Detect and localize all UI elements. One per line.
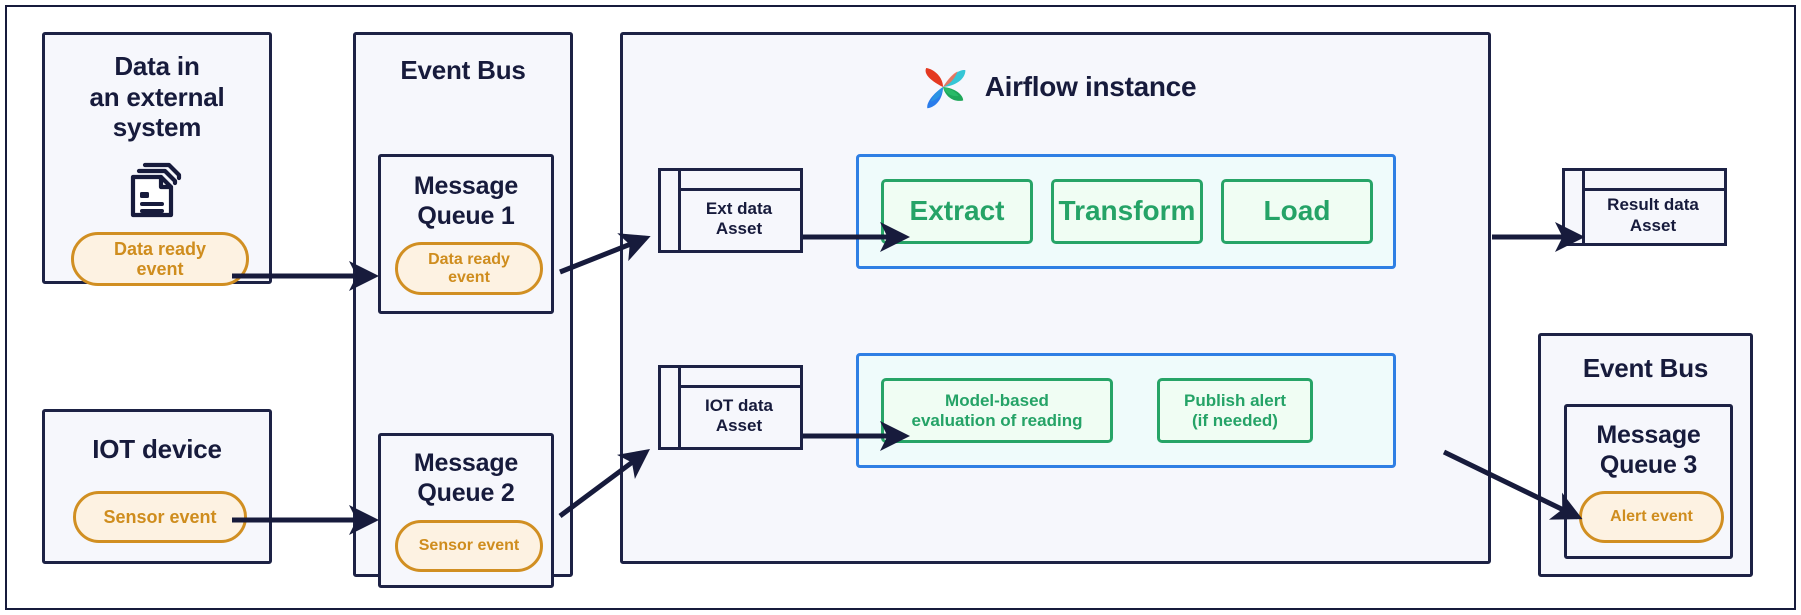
etl-dag-container: Extract Transform Load [856, 154, 1396, 269]
iot-data-asset-label-line1: IOT data [705, 396, 773, 415]
task-publish-alert[interactable]: Publish alert (if needed) [1157, 378, 1313, 443]
ext-data-asset-label-line1: Ext data [706, 199, 772, 218]
task-transform[interactable]: Transform [1051, 179, 1203, 244]
task-publish-alert-line1: Publish alert [1184, 391, 1286, 410]
event-bus-right-card: Event Bus Message Queue 3 Alert event [1538, 333, 1753, 577]
task-model-based-evaluation[interactable]: Model-based evaluation of reading [881, 378, 1113, 443]
message-queue-3-title-line1: Message [1567, 420, 1730, 450]
result-data-asset-label: Result data Asset [1579, 185, 1727, 246]
message-queue-2-title-line2: Queue 2 [381, 478, 551, 508]
event-bus-right-title: Event Bus [1541, 353, 1750, 384]
source-iot-event-pill[interactable]: Sensor event [73, 491, 247, 543]
result-data-asset[interactable]: Result data Asset [1562, 168, 1727, 246]
result-data-asset-label-line1: Result data [1607, 195, 1699, 214]
source-external-title: Data in an external system [45, 51, 269, 143]
source-external-event-pill[interactable]: Data ready event [71, 232, 249, 286]
ext-data-asset-label-line2: Asset [716, 219, 762, 238]
source-external-title-line3: system [45, 112, 269, 143]
airflow-header: Airflow instance [623, 59, 1488, 115]
airflow-instance-title: Airflow instance [985, 71, 1196, 103]
task-load[interactable]: Load [1221, 179, 1373, 244]
message-queue-2-card: Message Queue 2 Sensor event [378, 433, 554, 588]
message-queue-2-title-line1: Message [381, 448, 551, 478]
ext-data-asset-label: Ext data Asset [675, 185, 803, 253]
source-external-system-card: Data in an external system Data ready [42, 32, 272, 284]
source-external-title-line1: Data in [45, 51, 269, 82]
diagram-canvas: Data in an external system Data ready [0, 0, 1801, 615]
task-publish-alert-line2: (if needed) [1192, 411, 1278, 430]
iot-data-asset[interactable]: IOT data Asset [658, 365, 803, 450]
task-model-based-evaluation-line1: Model-based [945, 391, 1049, 410]
message-queue-3-card: Message Queue 3 Alert event [1564, 404, 1733, 559]
documents-icon [45, 159, 269, 223]
event-bus-left-title: Event Bus [356, 55, 570, 86]
ext-data-asset[interactable]: Ext data Asset [658, 168, 803, 253]
iot-data-asset-label-line2: Asset [716, 416, 762, 435]
airflow-instance-card: Airflow instance Ext data Asset Extract … [620, 32, 1491, 564]
task-extract-label: Extract [910, 195, 1005, 227]
message-queue-2-title: Message Queue 2 [381, 448, 551, 508]
source-iot-device-card: IOT device Sensor event [42, 409, 272, 564]
task-model-based-evaluation-line2: evaluation of reading [912, 411, 1083, 430]
message-queue-1-title-line2: Queue 1 [381, 201, 551, 231]
task-load-label: Load [1264, 195, 1331, 227]
message-queue-3-event-pill[interactable]: Alert event [1579, 491, 1724, 543]
iot-data-asset-label: IOT data Asset [675, 382, 803, 450]
message-queue-2-event-pill[interactable]: Sensor event [395, 520, 543, 572]
airflow-pinwheel-logo [915, 59, 971, 115]
message-queue-1-title-line1: Message [381, 171, 551, 201]
result-data-asset-label-line2: Asset [1630, 216, 1676, 235]
source-external-title-line2: an external [45, 82, 269, 113]
message-queue-1-event-pill[interactable]: Data ready event [395, 242, 543, 295]
message-queue-1-title: Message Queue 1 [381, 171, 551, 231]
source-iot-title: IOT device [45, 434, 269, 465]
alerting-dag-container: Model-based evaluation of reading Publis… [856, 353, 1396, 468]
message-queue-3-title: Message Queue 3 [1567, 420, 1730, 480]
message-queue-3-title-line2: Queue 3 [1567, 450, 1730, 480]
task-transform-label: Transform [1059, 195, 1196, 227]
event-bus-left-card: Event Bus Message Queue 1 Data ready eve… [353, 32, 573, 577]
message-queue-1-card: Message Queue 1 Data ready event [378, 154, 554, 314]
task-extract[interactable]: Extract [881, 179, 1033, 244]
